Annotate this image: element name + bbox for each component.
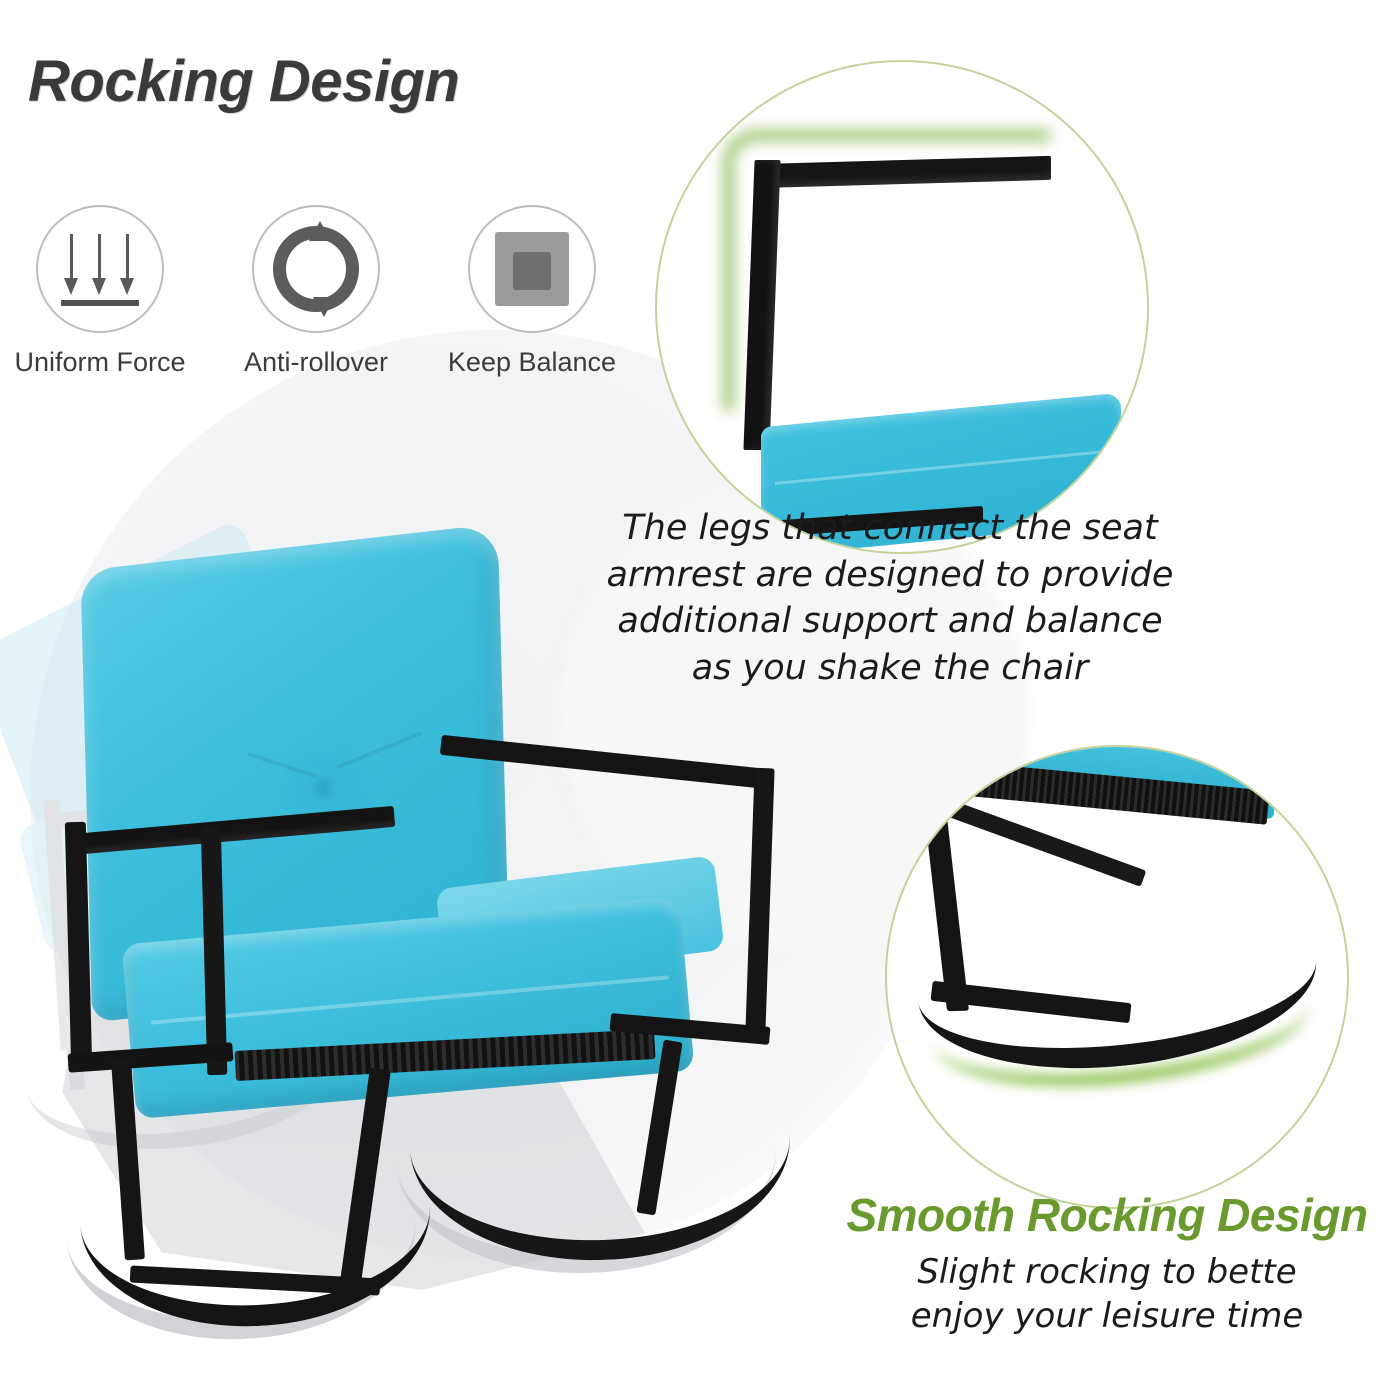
callout-subtext: Slight rocking to bette enjoy your leisu… [830,1250,1384,1338]
feature-anti-rollover: Anti-rollover [226,205,406,378]
page-title: Rocking Design [28,48,459,115]
product-chair-illustration [10,520,830,1350]
nested-squares-icon [495,232,569,306]
feature-icon-row: Uniform Force Anti-rollover Keep Balance [10,205,622,378]
diagonal-rail [943,799,1146,887]
feature-label: Keep Balance [448,347,616,378]
feature-label: Uniform Force [14,347,185,378]
feature-label: Anti-rollover [244,347,388,378]
feature-icon-circle [36,205,164,333]
callout-heading: Smooth Rocking Design [830,1188,1384,1242]
feature-icon-circle [468,205,596,333]
callout-circle-armrest [655,60,1149,554]
callout-subtext-line2: enjoy your leisure time [830,1294,1384,1338]
infographic-canvas: Rocking Design Uniform Force Anti-rollov… [0,0,1384,1384]
circular-rotation-icon [273,226,359,312]
callout-caption-block: Smooth Rocking Design Slight rocking to … [830,1188,1384,1338]
callout-circle-rocker [885,745,1349,1209]
down-arrows-on-bar-icon [61,232,139,306]
feature-keep-balance: Keep Balance [442,205,622,378]
callout-subtext-line1: Slight rocking to bette [830,1250,1384,1294]
feature-uniform-force: Uniform Force [10,205,190,378]
cushion-tuft-button [310,773,337,802]
armrest-right-post [745,768,774,1034]
feature-icon-circle [252,205,380,333]
